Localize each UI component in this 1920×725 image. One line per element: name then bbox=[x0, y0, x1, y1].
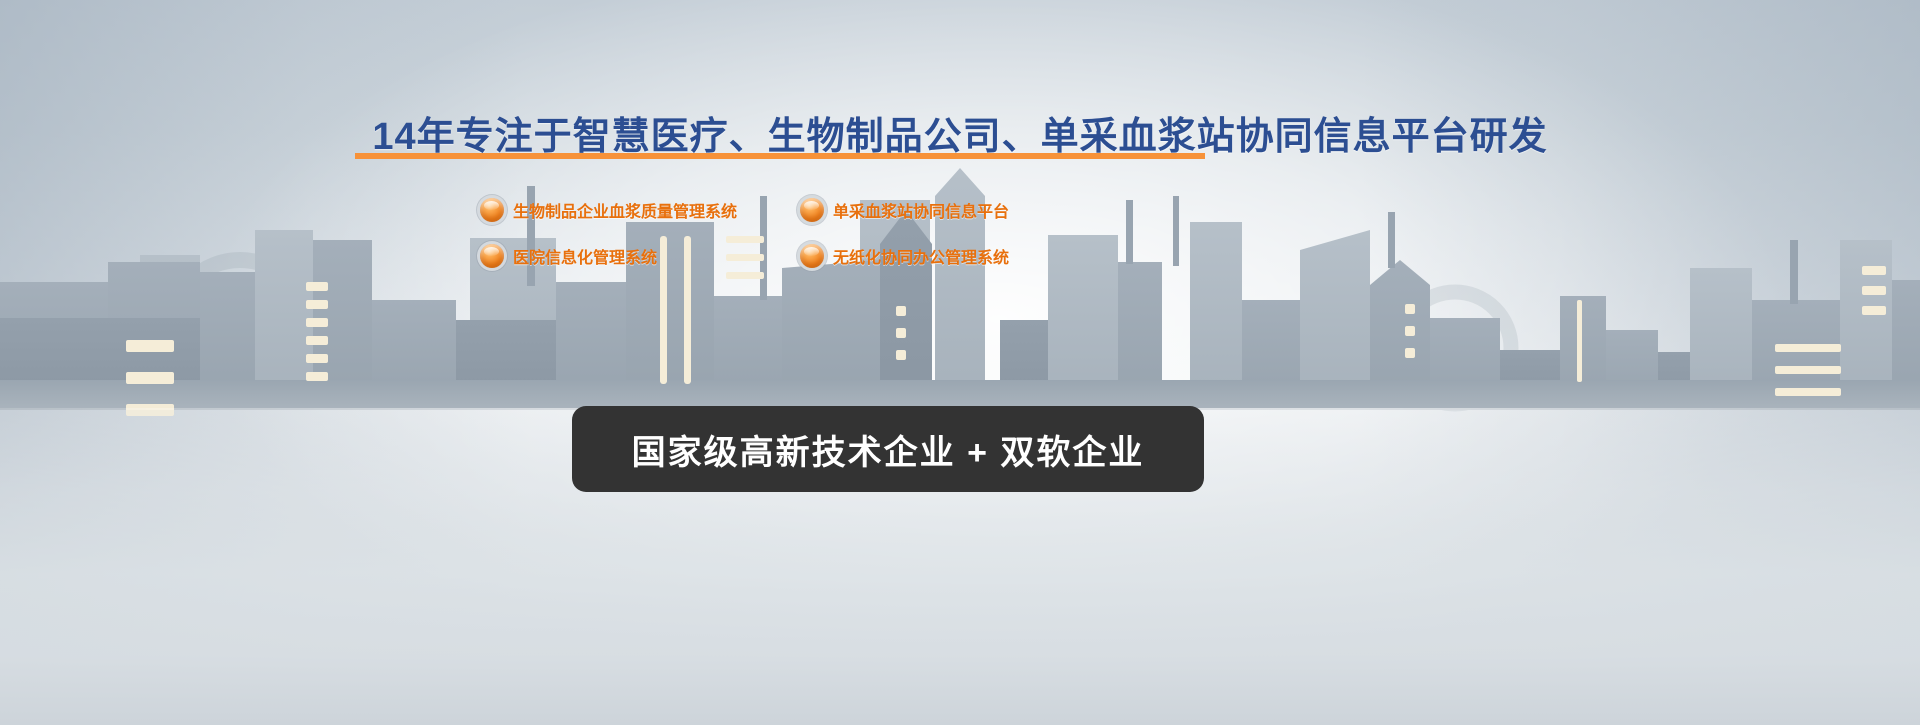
feature-item-paperless-office[interactable]: 无纸化协同办公管理系统 bbox=[800, 244, 1009, 268]
page-title: 14年专注于智慧医疗、生物制品公司、单采血浆站协同信息平台研发 bbox=[0, 105, 1920, 160]
status-badge: 国家级高新技术企业 + 双软企业 bbox=[572, 406, 1204, 492]
feature-item-hospital-information[interactable]: 医院信息化管理系统 bbox=[480, 244, 800, 268]
orange-sphere-bullet-icon bbox=[480, 198, 504, 222]
badge-label: 国家级高新技术企业 + 双软企业 bbox=[632, 425, 1145, 474]
feature-item-plasma-station-platform[interactable]: 单采血浆站协同信息平台 bbox=[800, 198, 1009, 222]
feature-label: 生物制品企业血浆质量管理系统 bbox=[513, 198, 737, 222]
orange-sphere-bullet-icon bbox=[800, 244, 824, 268]
feature-row: 生物制品企业血浆质量管理系统 单采血浆站协同信息平台 bbox=[480, 188, 1080, 232]
title-underline-accent bbox=[355, 153, 1205, 159]
feature-label: 医院信息化管理系统 bbox=[513, 244, 657, 268]
feature-list: 生物制品企业血浆质量管理系统 单采血浆站协同信息平台 医院信息化管理系统 无纸化… bbox=[480, 188, 1080, 278]
orange-sphere-bullet-icon bbox=[800, 198, 824, 222]
hero-banner: 14年专注于智慧医疗、生物制品公司、单采血浆站协同信息平台研发 生物制品企业血浆… bbox=[0, 0, 1920, 725]
feature-item-plasma-quality[interactable]: 生物制品企业血浆质量管理系统 bbox=[480, 198, 800, 222]
feature-label: 单采血浆站协同信息平台 bbox=[833, 198, 1009, 222]
orange-sphere-bullet-icon bbox=[480, 244, 504, 268]
feature-label: 无纸化协同办公管理系统 bbox=[833, 244, 1009, 268]
feature-row: 医院信息化管理系统 无纸化协同办公管理系统 bbox=[480, 234, 1080, 278]
